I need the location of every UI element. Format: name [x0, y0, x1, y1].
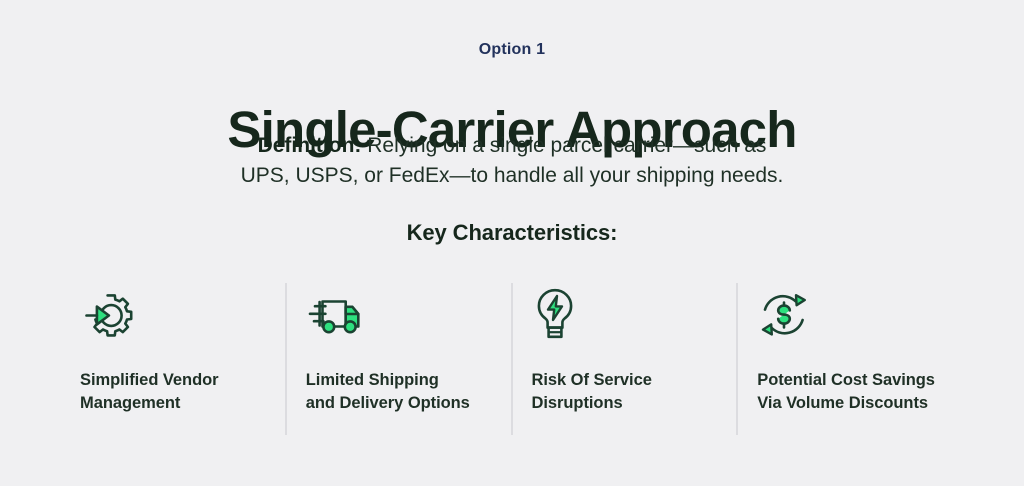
- gear-play-icon: [80, 283, 273, 347]
- feature-label-line-2: and Delivery Options: [306, 394, 470, 412]
- feature-item-risk-of-service-disruptions: Risk Of Service Disruptions: [511, 283, 737, 435]
- feature-item-potential-cost-savings: Potential Cost Savings Via Volume Discou…: [736, 283, 962, 435]
- feature-label: Limited Shipping and Delivery Options: [306, 369, 499, 416]
- feature-item-simplified-vendor-management: Simplified Vendor Management: [62, 283, 285, 435]
- definition-line-2: UPS, USPS, or FedEx—to handle all your s…: [241, 164, 784, 187]
- delivery-truck-icon: [306, 283, 499, 347]
- dollar-cycle-icon: [757, 283, 950, 347]
- feature-label-line-2: Management: [80, 394, 180, 412]
- feature-item-limited-shipping-options: Limited Shipping and Delivery Options: [285, 283, 511, 435]
- feature-label-line-1: Limited Shipping: [306, 371, 439, 389]
- feature-list: Simplified Vendor Management Limited Shi…: [62, 283, 962, 435]
- slide-canvas: Option 1 Single-Carrier Approach Definit…: [0, 0, 1024, 486]
- option-eyebrow: Option 1: [0, 41, 1024, 59]
- definition-line-1-rest: Relying on a single parcel carrier—such …: [361, 134, 766, 157]
- feature-label-line-1: Potential Cost Savings: [757, 371, 935, 389]
- lightbulb-bolt-icon: [532, 283, 725, 347]
- definition-line-1: Definition: Relying on a single parcel c…: [258, 134, 767, 157]
- feature-label: Potential Cost Savings Via Volume Discou…: [757, 369, 950, 416]
- feature-label-line-2: Disruptions: [532, 394, 623, 412]
- feature-label-line-1: Simplified Vendor: [80, 371, 219, 389]
- feature-label: Simplified Vendor Management: [80, 369, 273, 416]
- definition-label: Definition:: [258, 134, 362, 157]
- key-characteristics-heading: Key Characteristics:: [0, 220, 1024, 246]
- definition-text: Definition: Relying on a single parcel c…: [0, 131, 1024, 192]
- feature-label-line-2: Via Volume Discounts: [757, 394, 928, 412]
- feature-label: Risk Of Service Disruptions: [532, 369, 725, 416]
- feature-label-line-1: Risk Of Service: [532, 371, 652, 389]
